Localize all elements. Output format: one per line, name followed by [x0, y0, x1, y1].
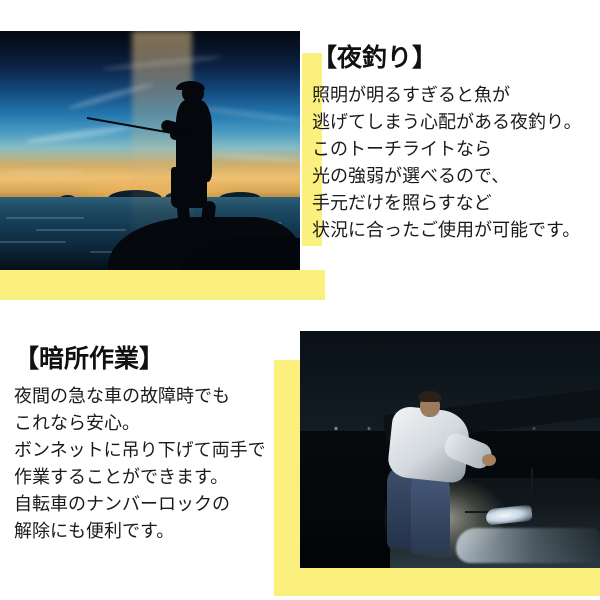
- night-fishing-text-block: 【夜釣り】 照明が明るすぎると魚が 逃げてしまう心配がある夜釣り。 このトーチラ…: [312, 42, 600, 244]
- body-line: このトーチライトなら: [312, 136, 600, 163]
- yellow-accent-bar-top: [0, 270, 325, 300]
- wave: [0, 241, 66, 243]
- dark-work-title: 【暗所作業】: [14, 343, 304, 374]
- body-line: 光の強弱が選べるので、: [312, 163, 600, 190]
- fisherman-silhouette-sunset-photo: [0, 31, 300, 270]
- night-fishing-body: 照明が明るすぎると魚が 逃げてしまう心配がある夜釣り。 このトーチライトなら 光…: [312, 82, 600, 244]
- fisherman-cap: [176, 81, 205, 90]
- body-line: 自転車のナンバーロックの: [14, 491, 304, 518]
- body-line: ボンネットに吊り下げて両手で: [14, 437, 304, 464]
- body-line: 解除にも便利です。: [14, 518, 304, 545]
- body-line: 照明が明るすぎると魚が: [312, 82, 600, 109]
- night-car-repair-photo: [300, 331, 600, 568]
- product-feature-page: 【夜釣り】 照明が明るすぎると魚が 逃げてしまう心配がある夜釣り。 このトーチラ…: [0, 0, 600, 600]
- dark-work-text-block: 【暗所作業】 夜間の急な車の故障時でも これなら安心。 ボンネットに吊り下げて両…: [14, 343, 304, 545]
- fisherman-foot: [174, 253, 194, 261]
- car-body-highlight: [456, 528, 600, 564]
- dark-work-body: 夜間の急な車の故障時でも これなら安心。 ボンネットに吊り下げて両手で 作業する…: [14, 383, 304, 545]
- body-line: 状況に合ったご使用が可能です。: [312, 217, 600, 244]
- man-hair: [419, 391, 441, 402]
- man-hand: [482, 454, 496, 466]
- man-leg: [411, 473, 450, 554]
- body-line: 夜間の急な車の故障時でも: [14, 383, 304, 410]
- body-line: 手元だけを照らすなど: [312, 190, 600, 217]
- cloud: [6, 170, 86, 174]
- body-line: 逃げてしまう心配がある夜釣り。: [312, 109, 600, 136]
- fisherman-shorts: [171, 167, 207, 208]
- body-line: 作業することができます。: [14, 464, 304, 491]
- night-fishing-title: 【夜釣り】: [312, 42, 600, 73]
- fisherman-foot: [204, 251, 226, 259]
- body-line: これなら安心。: [14, 410, 304, 437]
